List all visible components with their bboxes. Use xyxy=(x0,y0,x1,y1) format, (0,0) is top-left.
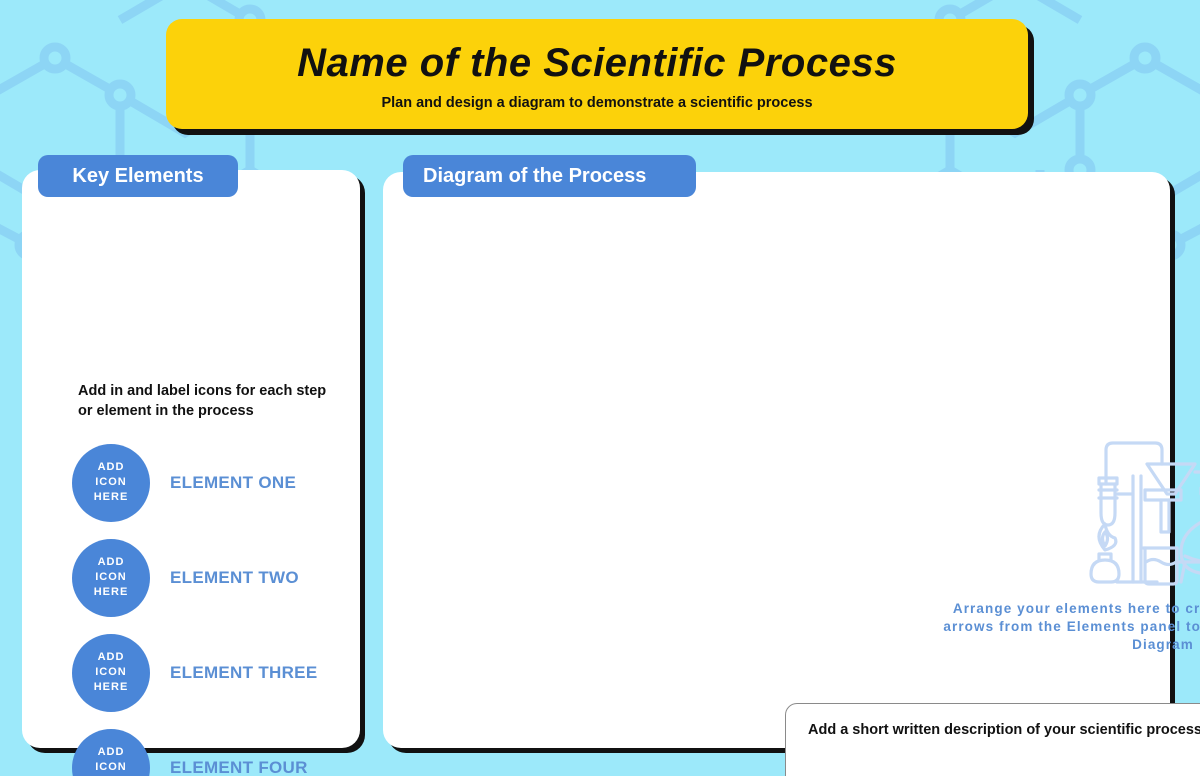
element-label-4[interactable]: ELEMENT FOUR xyxy=(170,758,308,776)
diagram-panel: Arrange your elements here to create you… xyxy=(383,172,1170,748)
element-label-1[interactable]: ELEMENT ONE xyxy=(170,473,296,493)
key-elements-instruction: Add in and label icons for each step or … xyxy=(78,382,340,421)
element-row: ADDICONHEREELEMENT THREE xyxy=(72,625,372,720)
add-icon-text-line: ADD xyxy=(98,650,125,665)
description-input-box[interactable]: Add a short written description of your … xyxy=(785,703,1200,776)
tab-diagram-label: Diagram of the Process xyxy=(423,165,646,188)
add-icon-text-line: ICON xyxy=(95,570,127,585)
add-icon-text-line: ADD xyxy=(98,745,125,760)
tab-key-elements[interactable]: Key Elements xyxy=(38,155,238,197)
page-subtitle: Plan and design a diagram to demonstrate… xyxy=(381,95,812,111)
add-icon-placeholder-4[interactable]: ADDICONHERE xyxy=(72,729,150,776)
add-icon-text-line: HERE xyxy=(94,490,129,505)
add-icon-placeholder-3[interactable]: ADDICONHERE xyxy=(72,634,150,712)
add-icon-text-line: ADD xyxy=(98,460,125,475)
lab-equipment-icon xyxy=(1077,428,1200,590)
element-label-3[interactable]: ELEMENT THREE xyxy=(170,663,317,683)
add-icon-placeholder-2[interactable]: ADDICONHERE xyxy=(72,539,150,617)
element-list: ADDICONHEREELEMENT ONEADDICONHEREELEMENT… xyxy=(72,435,372,776)
description-placeholder-text: Add a short written description of your … xyxy=(808,722,1200,738)
tab-key-elements-label: Key Elements xyxy=(72,165,203,188)
element-row: ADDICONHEREELEMENT TWO xyxy=(72,530,372,625)
element-label-2[interactable]: ELEMENT TWO xyxy=(170,568,299,588)
add-icon-text-line: HERE xyxy=(94,680,129,695)
add-icon-placeholder-1[interactable]: ADDICONHERE xyxy=(72,444,150,522)
add-icon-text-line: ICON xyxy=(95,665,127,680)
key-elements-panel: Add in and label icons for each step or … xyxy=(22,170,360,748)
add-icon-text-line: HERE xyxy=(94,585,129,600)
worksheet-canvas: Name of the Scientific Process Plan and … xyxy=(0,0,1200,776)
element-row: ADDICONHEREELEMENT FOUR xyxy=(72,720,372,776)
add-icon-text-line: ICON xyxy=(95,475,127,490)
add-icon-text-line: ICON xyxy=(95,760,127,775)
tab-diagram-of-the-process[interactable]: Diagram of the Process xyxy=(403,155,696,197)
add-icon-text-line: ADD xyxy=(98,555,125,570)
diagram-canvas-instruction: Arrange your elements here to create you… xyxy=(943,600,1200,655)
element-row: ADDICONHEREELEMENT ONE xyxy=(72,435,372,530)
title-banner: Name of the Scientific Process Plan and … xyxy=(166,19,1028,129)
page-title: Name of the Scientific Process xyxy=(297,41,897,85)
